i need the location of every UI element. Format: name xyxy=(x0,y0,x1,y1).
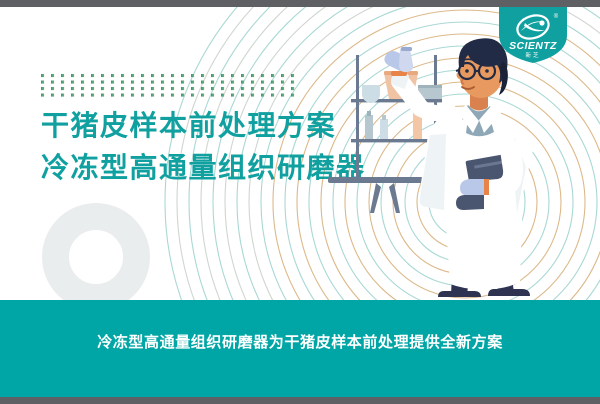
logo-sub-wordmark: 新芝 xyxy=(525,51,540,59)
poster-canvas: 干猪皮样本前处理方案 冷冻型高通量组织研磨器 xyxy=(0,7,600,397)
registered-mark-icon: ® xyxy=(554,13,559,20)
banner-text: 冷冻型高通量组织研磨器为干猪皮样本前处理提供全新方案 xyxy=(0,331,600,352)
logo-wordmark: SCIENTZ xyxy=(509,40,557,52)
scientz-logo[interactable]: SCIENTZ 新芝 ® xyxy=(499,7,567,63)
bottom-banner: 冷冻型高通量组织研磨器为干猪皮样本前处理提供全新方案 xyxy=(0,300,600,397)
scientist-figure xyxy=(384,38,533,297)
poster-root: 干猪皮样本前处理方案 冷冻型高通量组织研磨器 xyxy=(0,0,600,404)
grey-donut-decoration xyxy=(42,203,150,311)
dot-grid-decoration xyxy=(41,74,299,100)
bottom-chrome-bar xyxy=(0,397,600,404)
scientist-illustration xyxy=(318,27,600,317)
top-chrome-bar xyxy=(0,0,600,7)
